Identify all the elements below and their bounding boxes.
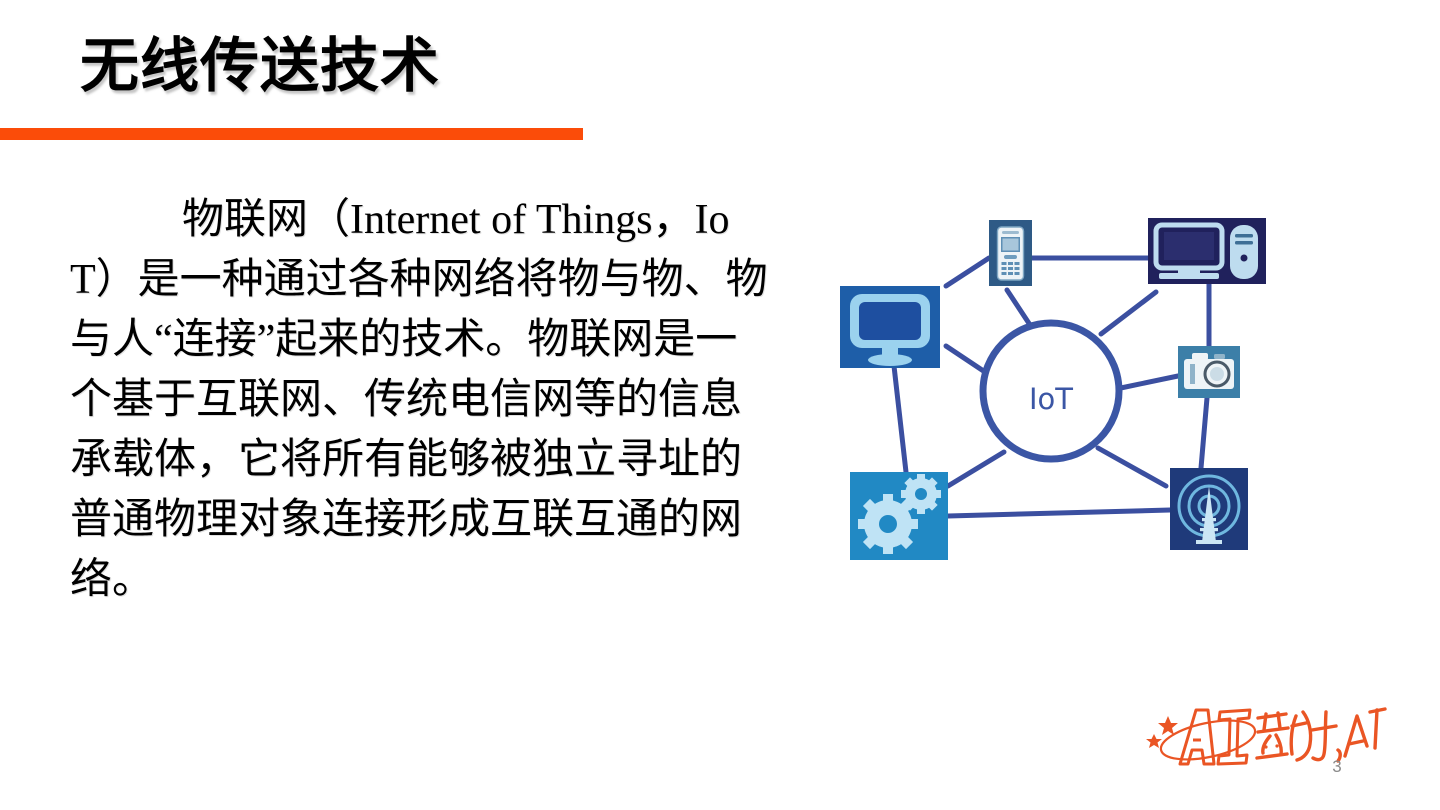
node-cell-tower [1170,468,1248,550]
page-number: 3 [1322,757,1352,777]
node-digital-camera [1178,346,1240,398]
node-monitor-tv [840,286,940,368]
iot-network-diagram: IoT [826,186,1276,576]
node-desktop-computer [1148,218,1266,284]
logo-wordmark [1257,709,1385,761]
iot-center-label: IoT [1029,382,1073,416]
brand-logo [1146,692,1396,772]
node-mobile-phone [989,220,1032,286]
title-underline-rule [0,128,583,140]
body-paragraph: 物联网（Internet of Things，IoT）是一种通过各种网络将物与物… [70,190,770,610]
slide-canvas: 无线传送技术 物联网（Internet of Things，IoT）是一种通过各… [0,0,1440,810]
node-gears [850,472,948,560]
page-title: 无线传送技术 [80,36,440,95]
